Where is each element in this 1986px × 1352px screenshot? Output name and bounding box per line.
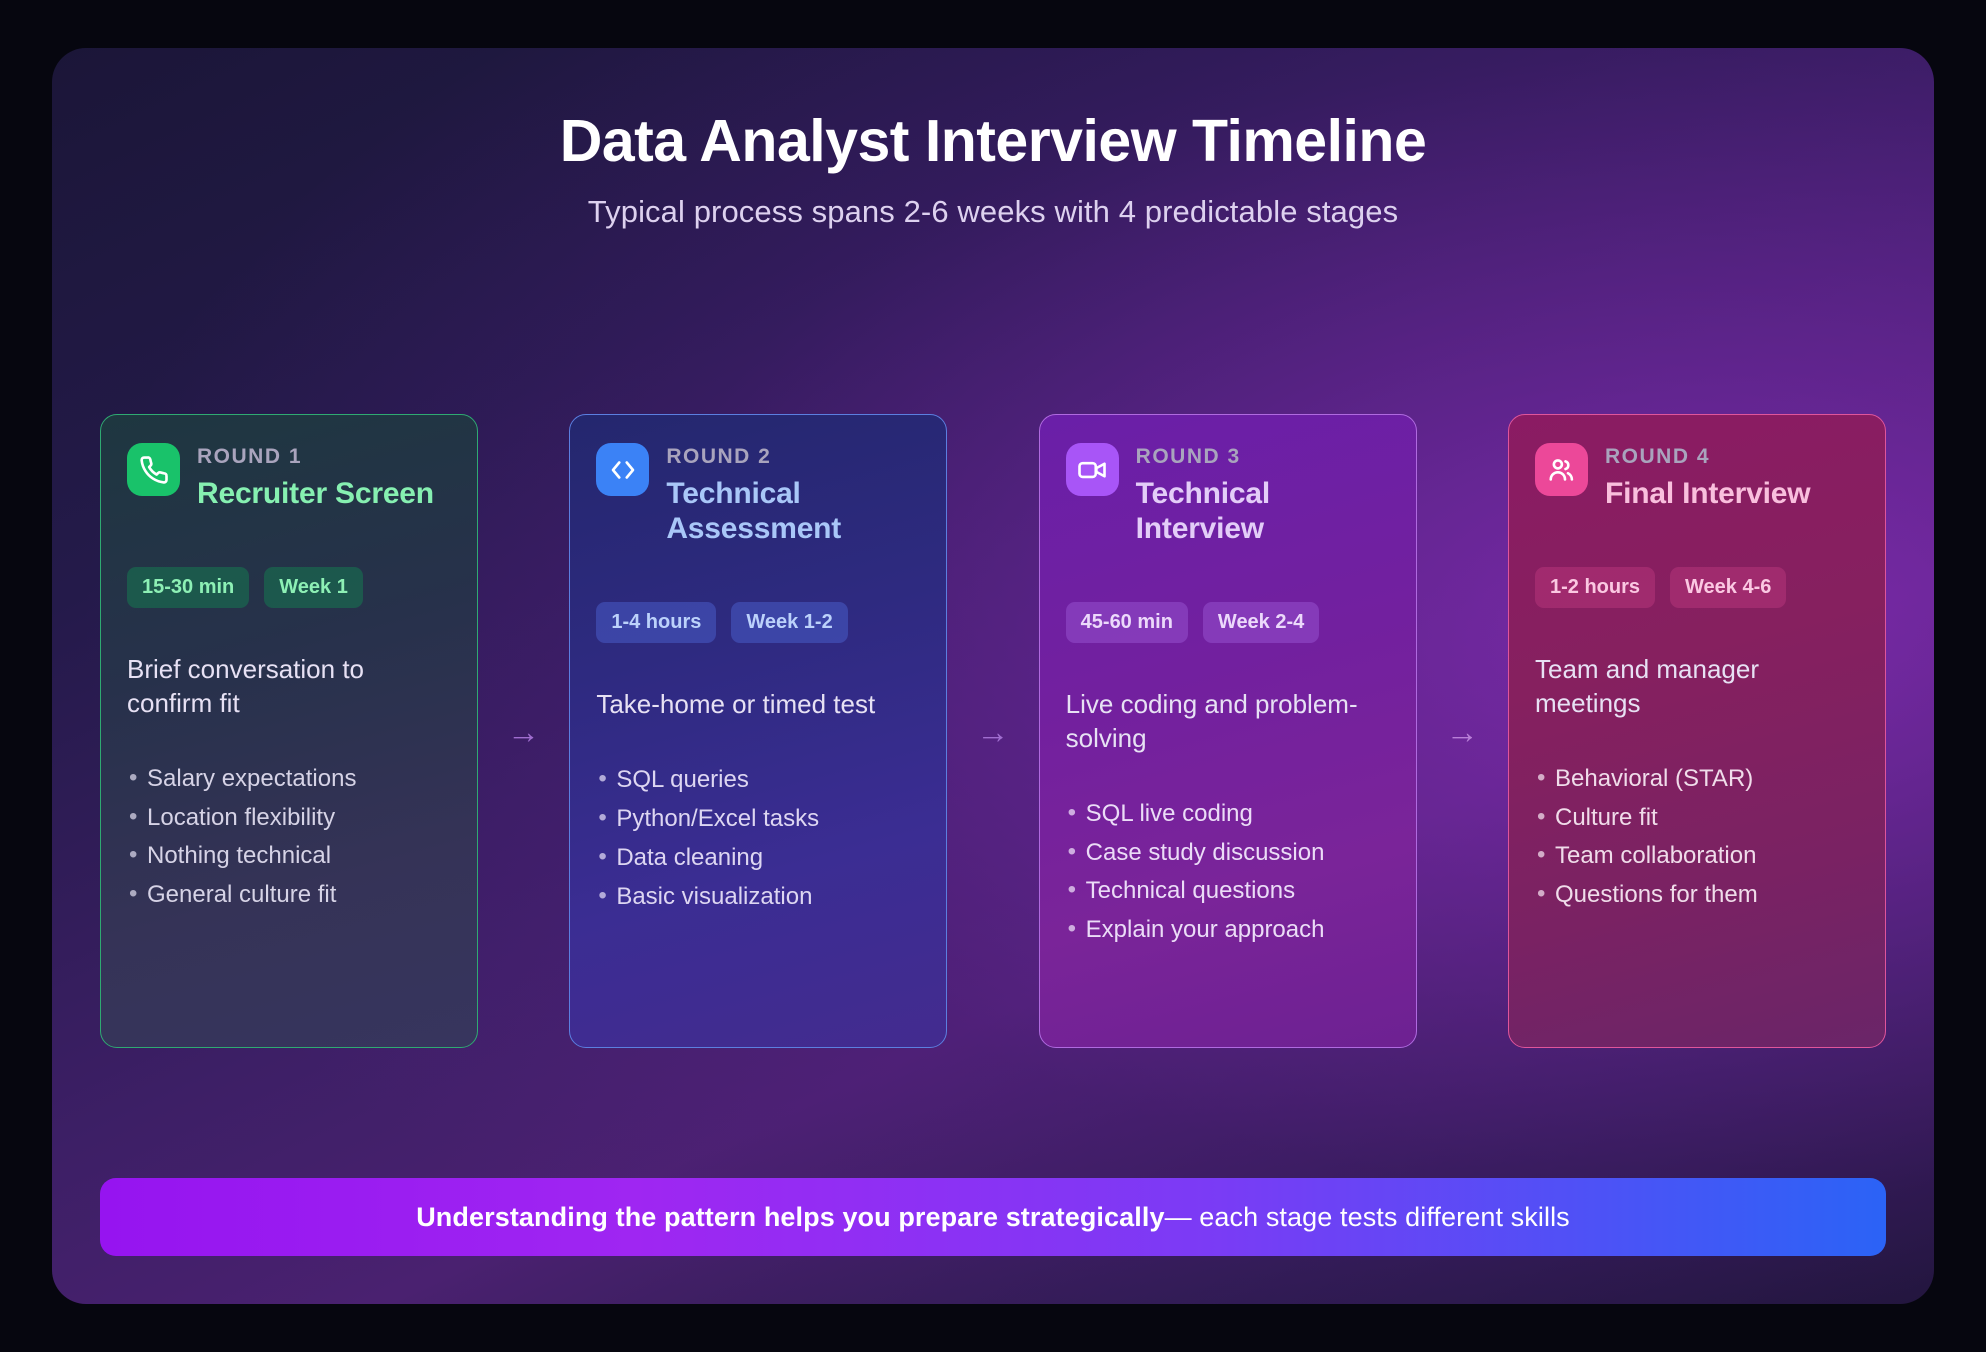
users-icon xyxy=(1535,443,1588,496)
week-badge: Week 4-6 xyxy=(1670,567,1786,608)
card-header-text: ROUND 1 Recruiter Screen xyxy=(197,443,434,511)
badge-group: 1-2 hours Week 4-6 xyxy=(1535,567,1859,608)
card-header: ROUND 3 Technical Interview xyxy=(1066,443,1390,546)
list-item: Case study discussion xyxy=(1066,839,1390,867)
connector-arrow-1: → xyxy=(478,414,569,1048)
week-badge: Week 1-2 xyxy=(731,602,847,643)
card-description: Take-home or timed test xyxy=(596,688,920,722)
list-item: Technical questions xyxy=(1066,877,1390,905)
duration-badge: 1-2 hours xyxy=(1535,567,1655,608)
stage-card-round-3[interactable]: ROUND 3 Technical Interview 45-60 min We… xyxy=(1039,414,1417,1048)
list-item: Location flexibility xyxy=(127,804,451,832)
list-item: Culture fit xyxy=(1535,804,1859,832)
week-badge: Week 1 xyxy=(264,567,363,608)
list-item: SQL live coding xyxy=(1066,800,1390,828)
card-title: Recruiter Screen xyxy=(197,476,434,511)
badge-group: 45-60 min Week 2-4 xyxy=(1066,602,1390,643)
connector-arrow-3: → xyxy=(1417,414,1508,1048)
card-bullet-list: SQL live coding Case study discussion Te… xyxy=(1066,800,1390,944)
duration-badge: 15-30 min xyxy=(127,567,249,608)
card-header-text: ROUND 3 Technical Interview xyxy=(1136,443,1390,546)
list-item: Basic visualization xyxy=(596,883,920,911)
stage-card-round-4[interactable]: ROUND 4 Final Interview 1-2 hours Week 4… xyxy=(1508,414,1886,1048)
duration-badge: 45-60 min xyxy=(1066,602,1188,643)
phone-icon xyxy=(127,443,180,496)
card-description: Team and manager meetings xyxy=(1535,653,1859,721)
card-title: Technical Assessment xyxy=(666,476,920,546)
list-item: Behavioral (STAR) xyxy=(1535,765,1859,793)
list-item: Nothing technical xyxy=(127,842,451,870)
header: Data Analyst Interview Timeline Typical … xyxy=(52,48,1934,230)
card-description: Brief conversation to confirm fit xyxy=(127,653,451,721)
stage-card-round-1[interactable]: ROUND 1 Recruiter Screen 15-30 min Week … xyxy=(100,414,478,1048)
card-header-text: ROUND 4 Final Interview xyxy=(1605,443,1810,511)
round-label: ROUND 4 xyxy=(1605,443,1810,468)
page-subtitle: Typical process spans 2-6 weeks with 4 p… xyxy=(52,194,1934,230)
video-camera-icon xyxy=(1066,443,1119,496)
banner-rest-text: — each stage tests different skills xyxy=(1165,1202,1570,1233)
arrow-right-icon: → xyxy=(976,715,1009,748)
card-bullet-list: Salary expectations Location flexibility… xyxy=(127,765,451,909)
card-title: Final Interview xyxy=(1605,476,1810,511)
arrow-right-icon: → xyxy=(507,715,540,748)
list-item: Team collaboration xyxy=(1535,842,1859,870)
badge-group: 1-4 hours Week 1-2 xyxy=(596,602,920,643)
round-label: ROUND 3 xyxy=(1136,443,1390,468)
banner-bold-text: Understanding the pattern helps you prep… xyxy=(416,1202,1164,1233)
card-header: ROUND 2 Technical Assessment xyxy=(596,443,920,546)
page-title: Data Analyst Interview Timeline xyxy=(52,110,1934,173)
card-header-text: ROUND 2 Technical Assessment xyxy=(666,443,920,546)
list-item: Data cleaning xyxy=(596,844,920,872)
code-brackets-icon xyxy=(596,443,649,496)
stage-card-round-2[interactable]: ROUND 2 Technical Assessment 1-4 hours W… xyxy=(569,414,947,1048)
week-badge: Week 2-4 xyxy=(1203,602,1319,643)
connector-arrow-2: → xyxy=(947,414,1038,1048)
round-label: ROUND 2 xyxy=(666,443,920,468)
arrow-right-icon: → xyxy=(1446,715,1479,748)
card-bullet-list: SQL queries Python/Excel tasks Data clea… xyxy=(596,766,920,910)
card-header: ROUND 4 Final Interview xyxy=(1535,443,1859,511)
list-item: Explain your approach xyxy=(1066,916,1390,944)
timeline-track: ROUND 1 Recruiter Screen 15-30 min Week … xyxy=(52,414,1934,1048)
summary-banner: Understanding the pattern helps you prep… xyxy=(100,1178,1886,1256)
card-bullet-list: Behavioral (STAR) Culture fit Team colla… xyxy=(1535,765,1859,909)
duration-badge: 1-4 hours xyxy=(596,602,716,643)
infographic-panel: Data Analyst Interview Timeline Typical … xyxy=(52,48,1934,1304)
list-item: General culture fit xyxy=(127,881,451,909)
list-item: Salary expectations xyxy=(127,765,451,793)
list-item: Questions for them xyxy=(1535,881,1859,909)
badge-group: 15-30 min Week 1 xyxy=(127,567,451,608)
card-title: Technical Interview xyxy=(1136,476,1390,546)
card-description: Live coding and problem-solving xyxy=(1066,688,1390,756)
card-header: ROUND 1 Recruiter Screen xyxy=(127,443,451,511)
list-item: SQL queries xyxy=(596,766,920,794)
list-item: Python/Excel tasks xyxy=(596,805,920,833)
round-label: ROUND 1 xyxy=(197,443,434,468)
